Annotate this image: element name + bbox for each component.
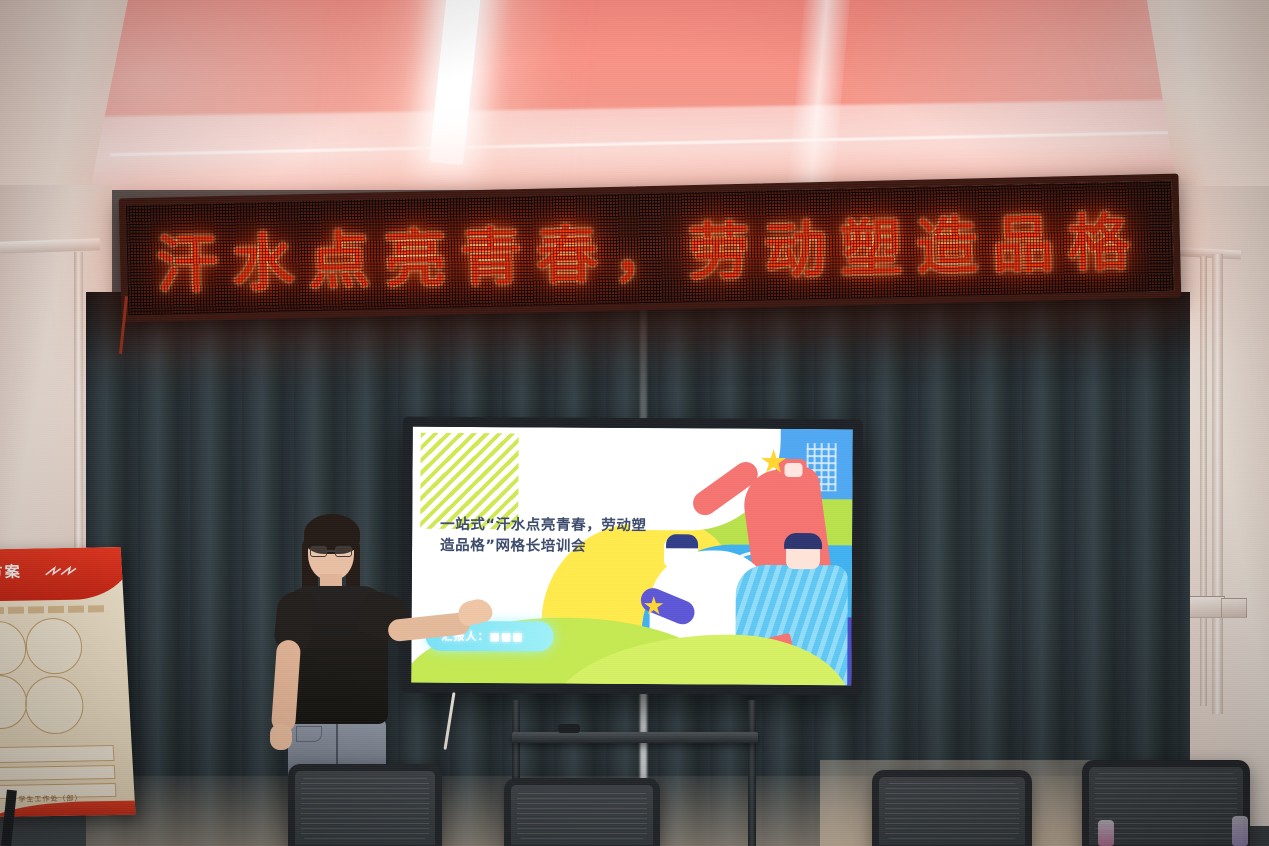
chair-backrest [504, 778, 660, 846]
chair-mesh [301, 777, 429, 839]
glasses-lens-left [310, 546, 327, 557]
led-banner-text: 汗水点亮青春，劳动塑造品格 [126, 181, 1174, 316]
illustration-figure-white-hair [666, 534, 698, 548]
display-stand-leg-right [748, 700, 756, 846]
conduit-pipe-right [1212, 254, 1223, 714]
poster-circle-diagram [0, 621, 28, 676]
bird-wings-icon [43, 564, 78, 581]
water-bottle [1098, 820, 1114, 846]
chair-backrest [288, 764, 442, 846]
poster-title: 方案 [0, 561, 22, 583]
chair [288, 764, 442, 846]
chair [504, 778, 660, 846]
chair-mesh [517, 791, 647, 839]
poster-subtitle-line [0, 605, 108, 614]
poster-text-box [0, 765, 116, 781]
roll-up-poster-standee: 方案 学生工作处（部） [0, 547, 136, 817]
wall-outlet-plate[interactable] [1221, 598, 1247, 618]
remote-control[interactable] [558, 724, 580, 733]
slide-presenter-name: ■■■ [489, 630, 523, 643]
photo-scene: 汗水点亮青春，劳动塑造品格 [0, 0, 1269, 846]
glasses-lens-right [335, 546, 352, 557]
chair-backrest [872, 770, 1032, 846]
glasses-icon [310, 546, 352, 557]
chair-mesh [1095, 773, 1237, 839]
presenter-hand-left [270, 724, 292, 750]
conduit-pipe-right-secondary [1200, 256, 1207, 706]
poster-text-box [0, 745, 114, 763]
illustration-figure-red-face [784, 463, 802, 477]
presenter-hand-right [456, 596, 495, 628]
illustration-figure-blue-hair [784, 533, 822, 549]
led-scrolling-banner: 汗水点亮青春，劳动塑造品格 [119, 174, 1182, 323]
chair-mesh [885, 783, 1019, 839]
presenter-jeans-pocket [296, 726, 322, 742]
chair [872, 770, 1032, 846]
poster-circle-diagram [24, 618, 83, 675]
poster-circle-diagram [24, 676, 85, 735]
display-control-buttons[interactable] [775, 688, 835, 694]
glasses-bridge [327, 550, 335, 552]
ceiling [0, 0, 1269, 205]
water-bottle [1232, 816, 1248, 846]
poster-footer-text: 学生工作处（部） [18, 794, 83, 805]
display-stand-shelf [512, 732, 758, 743]
